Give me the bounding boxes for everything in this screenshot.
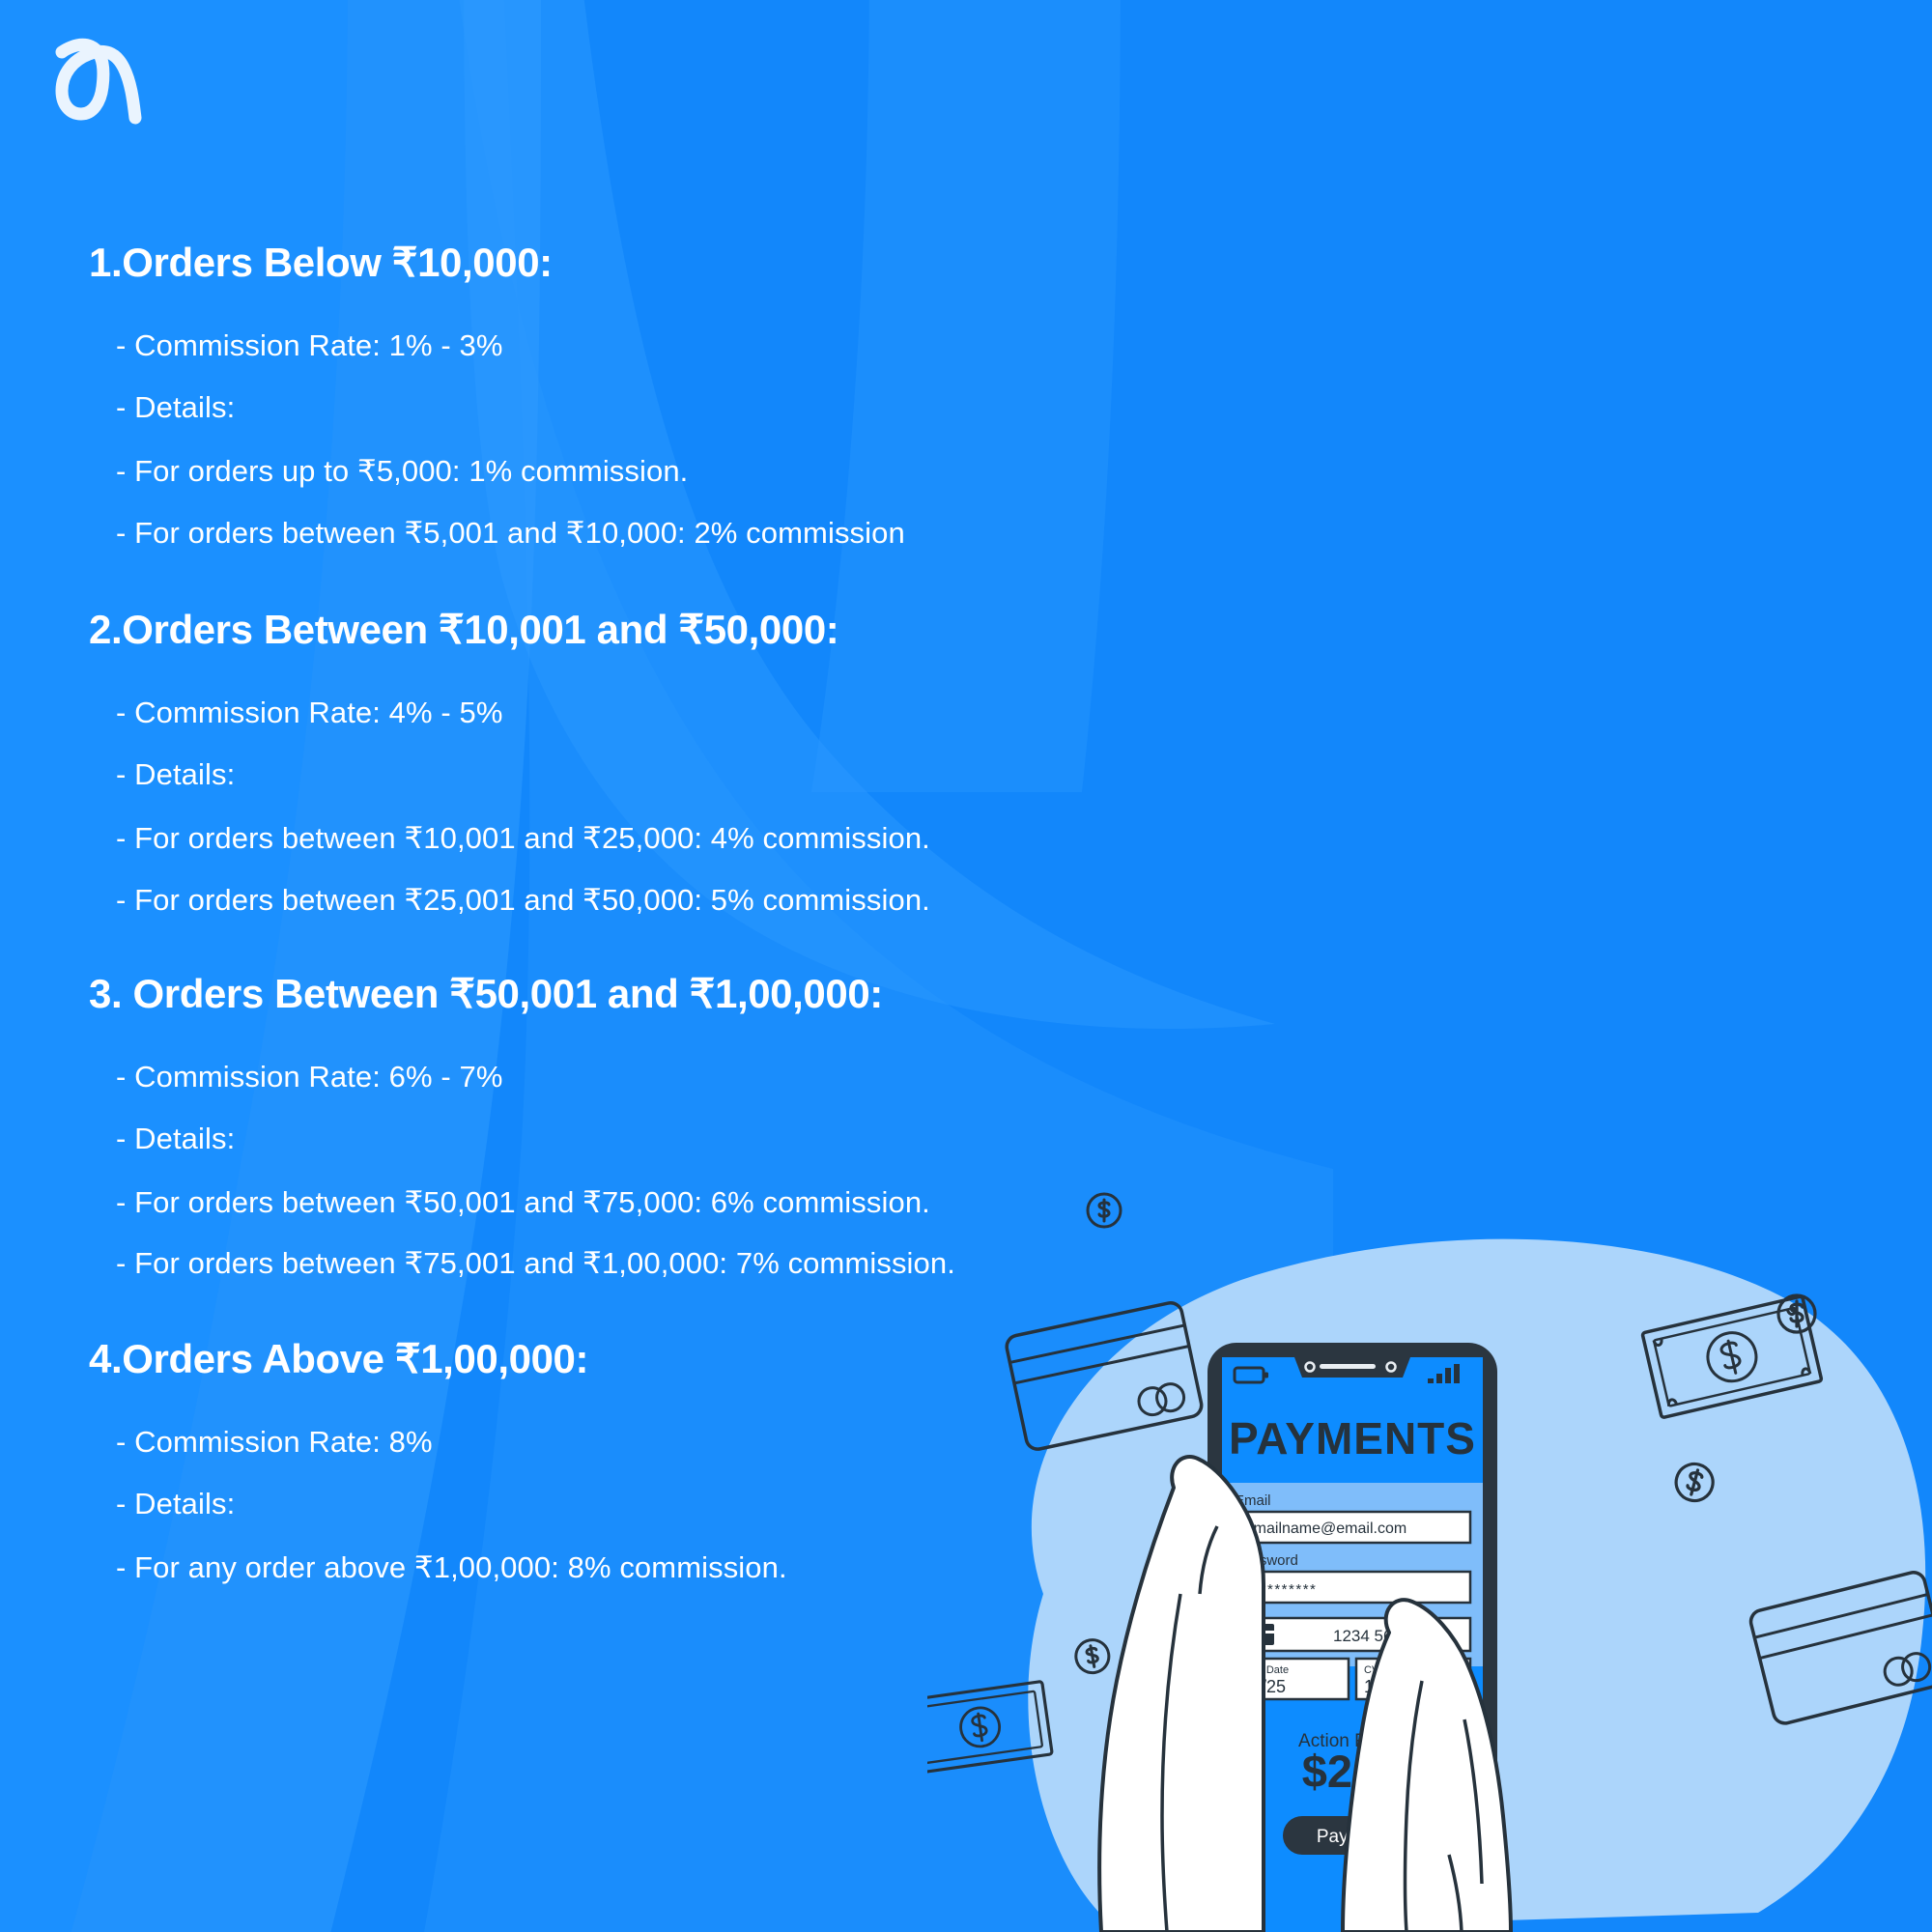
commission-section-1: 1.Orders Below ₹10,000: - Commission Rat… [89, 240, 1207, 553]
bullet-item: - Details: [116, 754, 1207, 795]
mudra-logo-icon [41, 17, 156, 133]
email-value: Emailname@email.com [1243, 1520, 1406, 1537]
section-heading: 3. Orders Between ₹50,001 and ₹1,00,000: [89, 971, 1207, 1016]
bullet-item: - Details: [116, 1484, 1207, 1524]
section-bullets: - Commission Rate: 6% - 7% - Details: - … [89, 1057, 1207, 1284]
bullet-item: - For any order above ₹1,00,000: 8% comm… [116, 1548, 1207, 1588]
section-bullets: - Commission Rate: 1% - 3% - Details: - … [89, 326, 1207, 553]
commission-section-4: 4.Orders Above ₹1,00,000: - Commission R… [89, 1336, 1207, 1588]
section-heading: 1.Orders Below ₹10,000: [89, 240, 1207, 285]
commission-section-2: 2.Orders Between ₹10,001 and ₹50,000: - … [89, 607, 1207, 920]
section-heading: 2.Orders Between ₹10,001 and ₹50,000: [89, 607, 1207, 652]
bullet-item: - Commission Rate: 8% [116, 1422, 1207, 1463]
bullet-item: - Commission Rate: 6% - 7% [116, 1057, 1207, 1097]
bullet-item: - Details: [116, 387, 1207, 428]
section-bullets: - Commission Rate: 4% - 5% - Details: - … [89, 693, 1207, 920]
bullet-item: - For orders up to ₹5,000: 1% commission… [116, 451, 1207, 492]
bullet-item: - For orders between ₹50,001 and ₹75,000… [116, 1182, 1207, 1223]
app-title: PAYMENTS [1229, 1413, 1476, 1463]
bullet-item: - Details: [116, 1119, 1207, 1159]
bullet-item: - For orders between ₹5,001 and ₹10,000:… [116, 513, 1207, 554]
earpiece-speaker [1320, 1364, 1376, 1369]
brand-logo [41, 17, 156, 133]
section-bullets: - Commission Rate: 8% - Details: - For a… [89, 1422, 1207, 1588]
commission-section-3: 3. Orders Between ₹50,001 and ₹1,00,000:… [89, 971, 1207, 1284]
commission-slab-list: 1.Orders Below ₹10,000: - Commission Rat… [0, 0, 1207, 1588]
section-heading: 4.Orders Above ₹1,00,000: [89, 1336, 1207, 1381]
bullet-item: - For orders between ₹25,001 and ₹50,000… [116, 880, 1207, 921]
bullet-item: - Commission Rate: 1% - 3% [116, 326, 1207, 366]
bullet-item: - For orders between ₹10,001 and ₹25,000… [116, 818, 1207, 859]
bullet-item: - For orders between ₹75,001 and ₹1,00,0… [116, 1243, 1207, 1284]
bullet-item: - Commission Rate: 4% - 5% [116, 693, 1207, 733]
